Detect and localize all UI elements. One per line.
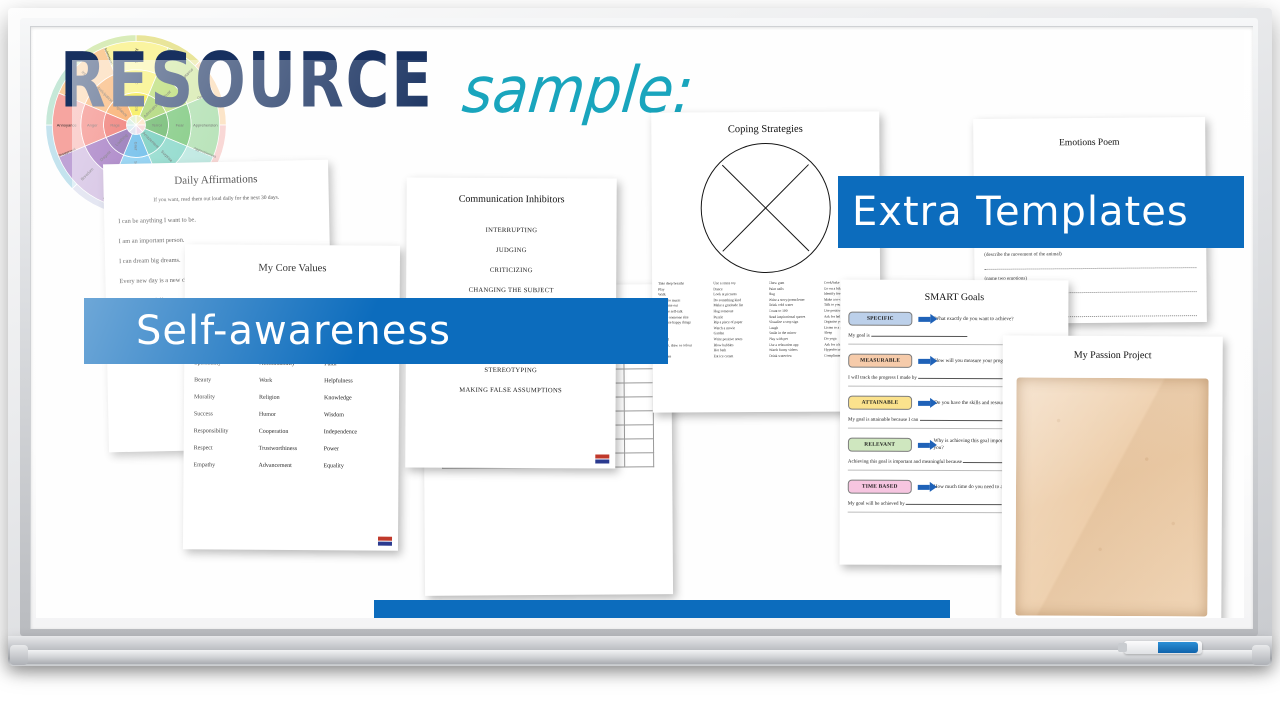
smart-fill-label: My goal will be achieved by: [848, 502, 905, 507]
core-values-column-3: Love Faith Helpfulness Knowledge Wisdom …: [323, 344, 389, 480]
document-my-passion-project[interactable]: My Passion Project: [1001, 335, 1223, 618]
list-item: Cooperation: [259, 429, 324, 435]
doc-subtitle: If you want, read them out loud daily fo…: [104, 194, 329, 205]
list-item: Responsibility: [194, 428, 259, 434]
pen-tray-cap-left: [10, 645, 28, 665]
list-item: I can be anything I want to be.: [118, 214, 329, 225]
list-item: Work: [259, 378, 324, 384]
list-item: Drink water/tea: [769, 353, 819, 359]
write-line[interactable]: [984, 258, 1196, 270]
list-item: MAKING FALSE ASSUMPTIONS: [406, 386, 616, 394]
doc-title: Coping Strategies: [651, 123, 879, 135]
smart-question: How will you measure your progress?: [934, 357, 1013, 364]
list-item: INTERRUPTING: [406, 226, 616, 234]
list-item: Religion: [259, 395, 324, 401]
coping-column-3: Chew gum Paint nails Hug Write a story/p…: [769, 281, 820, 360]
cell[interactable]: [625, 439, 654, 453]
coping-column-2: Use a stress toy Dance Look at pictures …: [713, 281, 764, 360]
parchment-texture: [1015, 377, 1208, 616]
doc-title: My Core Values: [185, 262, 400, 275]
publisher-logo-icon: [378, 537, 392, 546]
smart-fill-label: Achieving this goal is important and mea…: [848, 460, 962, 465]
banner-self-awareness[interactable]: Self-awareness: [84, 298, 668, 364]
list-item: JUDGING: [406, 246, 616, 254]
list-item: Helpfulness: [324, 378, 389, 384]
whiteboard-surface: RESOURCEsample: Daily Affirmations If yo…: [36, 30, 1244, 618]
banner-label: Self-awareness: [136, 308, 451, 354]
page-title-word-resource: RESOURCE: [60, 36, 434, 125]
list-item: Independence: [324, 429, 389, 435]
list-item: Power: [324, 446, 389, 452]
wheel-segment-label: Grief: [133, 142, 138, 151]
banner-extra-templates[interactable]: Extra Templates: [838, 176, 1244, 248]
list-item: Empathy: [194, 462, 259, 468]
list-item: Advancement: [259, 463, 324, 469]
smart-badge: TIME BASED: [848, 480, 912, 494]
list-item: Humor: [259, 412, 324, 418]
pen-tray-cap-right: [1252, 645, 1270, 665]
write-line[interactable]: [920, 415, 1016, 421]
smart-badge: RELEVANT: [848, 438, 912, 452]
banner-label: Decision Making: [487, 614, 837, 619]
cell[interactable]: [625, 383, 654, 397]
cell[interactable]: [625, 453, 654, 467]
doc-title: SMART Goals: [840, 292, 1068, 304]
marker-color-band: [1158, 642, 1198, 653]
list-item: Beauty: [194, 377, 259, 383]
list-item: Equality: [324, 463, 389, 469]
marker-tip-icon: [1118, 643, 1127, 652]
banner-label: Extra Templates: [852, 189, 1189, 235]
page-title: RESOURCEsample:: [60, 52, 694, 125]
document-my-core-values[interactable]: My Core Values Patience Spirituality Bea…: [183, 244, 400, 550]
list-item: Eat ice cream: [714, 354, 764, 360]
banner-decision-making[interactable]: Decision Making: [374, 600, 950, 618]
smart-fill-label: My goal is attainable because I can: [848, 418, 918, 423]
doc-title: Communication Inhibitors: [407, 193, 617, 205]
core-values-column-2: Creativity Accountability Work Religion …: [258, 344, 324, 480]
write-line[interactable]: [918, 373, 1014, 379]
list-item: STEREOTYPING: [406, 366, 616, 374]
smart-row-specific: SPECIFIC What exactly do you want to ach…: [840, 312, 1068, 327]
list-item: CHANGING THE SUBJECT: [406, 286, 616, 294]
doc-title: Daily Affirmations: [103, 172, 328, 189]
cell[interactable]: [625, 397, 654, 411]
list-item: Success: [194, 411, 259, 417]
write-line[interactable]: [906, 499, 1002, 505]
write-line[interactable]: [871, 331, 967, 337]
smart-badge: ATTAINABLE: [848, 396, 912, 410]
smart-badge: SPECIFIC: [848, 312, 912, 326]
pen-tray-lip: [18, 650, 1262, 664]
list-item: Morality: [194, 394, 259, 400]
doc-title: Emotions Poem: [973, 137, 1205, 149]
smart-question: What exactly do you want to achieve?: [934, 315, 1013, 322]
smart-badge: MEASURABLE: [848, 354, 912, 368]
list-item: Respect: [194, 445, 259, 451]
list-item: Trustworthiness: [259, 446, 324, 452]
smart-fill-label: My goal is: [848, 334, 869, 339]
doc-title: My Passion Project: [1003, 349, 1223, 361]
list-item: CRITICIZING: [406, 266, 616, 274]
coping-circle-diagram: [700, 143, 831, 274]
screenshot-root: RESOURCEsample: Daily Affirmations If yo…: [0, 0, 1280, 720]
smart-fill-label: I will track the progress I made by: [848, 376, 917, 381]
poem-hint: (describe the movement of the animal): [984, 251, 1196, 258]
publisher-logo-icon: [595, 454, 609, 463]
list-item: Wisdom: [324, 412, 389, 418]
cell[interactable]: [625, 411, 654, 425]
cell[interactable]: [624, 369, 653, 383]
cell[interactable]: [625, 425, 654, 439]
list-item: I am an important person.: [119, 234, 330, 245]
list-item: Knowledge: [324, 395, 389, 401]
